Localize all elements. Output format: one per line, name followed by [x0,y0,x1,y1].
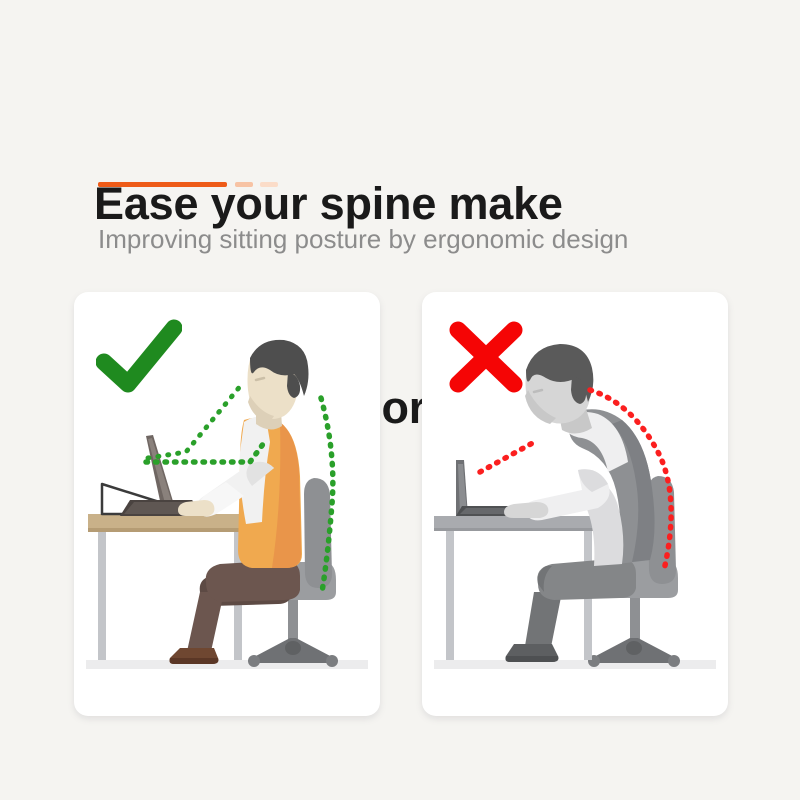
page-subtitle: Improving sitting posture by ergonomic d… [98,222,758,256]
divider-segment-mid [235,182,253,187]
divider [98,182,298,188]
divider-segment-main [98,182,227,187]
good-posture-illustration [74,292,380,716]
divider-segment-last [260,182,278,187]
chair-base [588,588,680,667]
card-good-posture [74,292,380,716]
sight-line-bad [480,440,538,472]
card-bad-posture [422,292,728,716]
infographic-page: Ease your spine make office work more co… [0,0,800,800]
bad-posture-illustration [422,292,728,716]
sight-line-good [148,384,242,458]
